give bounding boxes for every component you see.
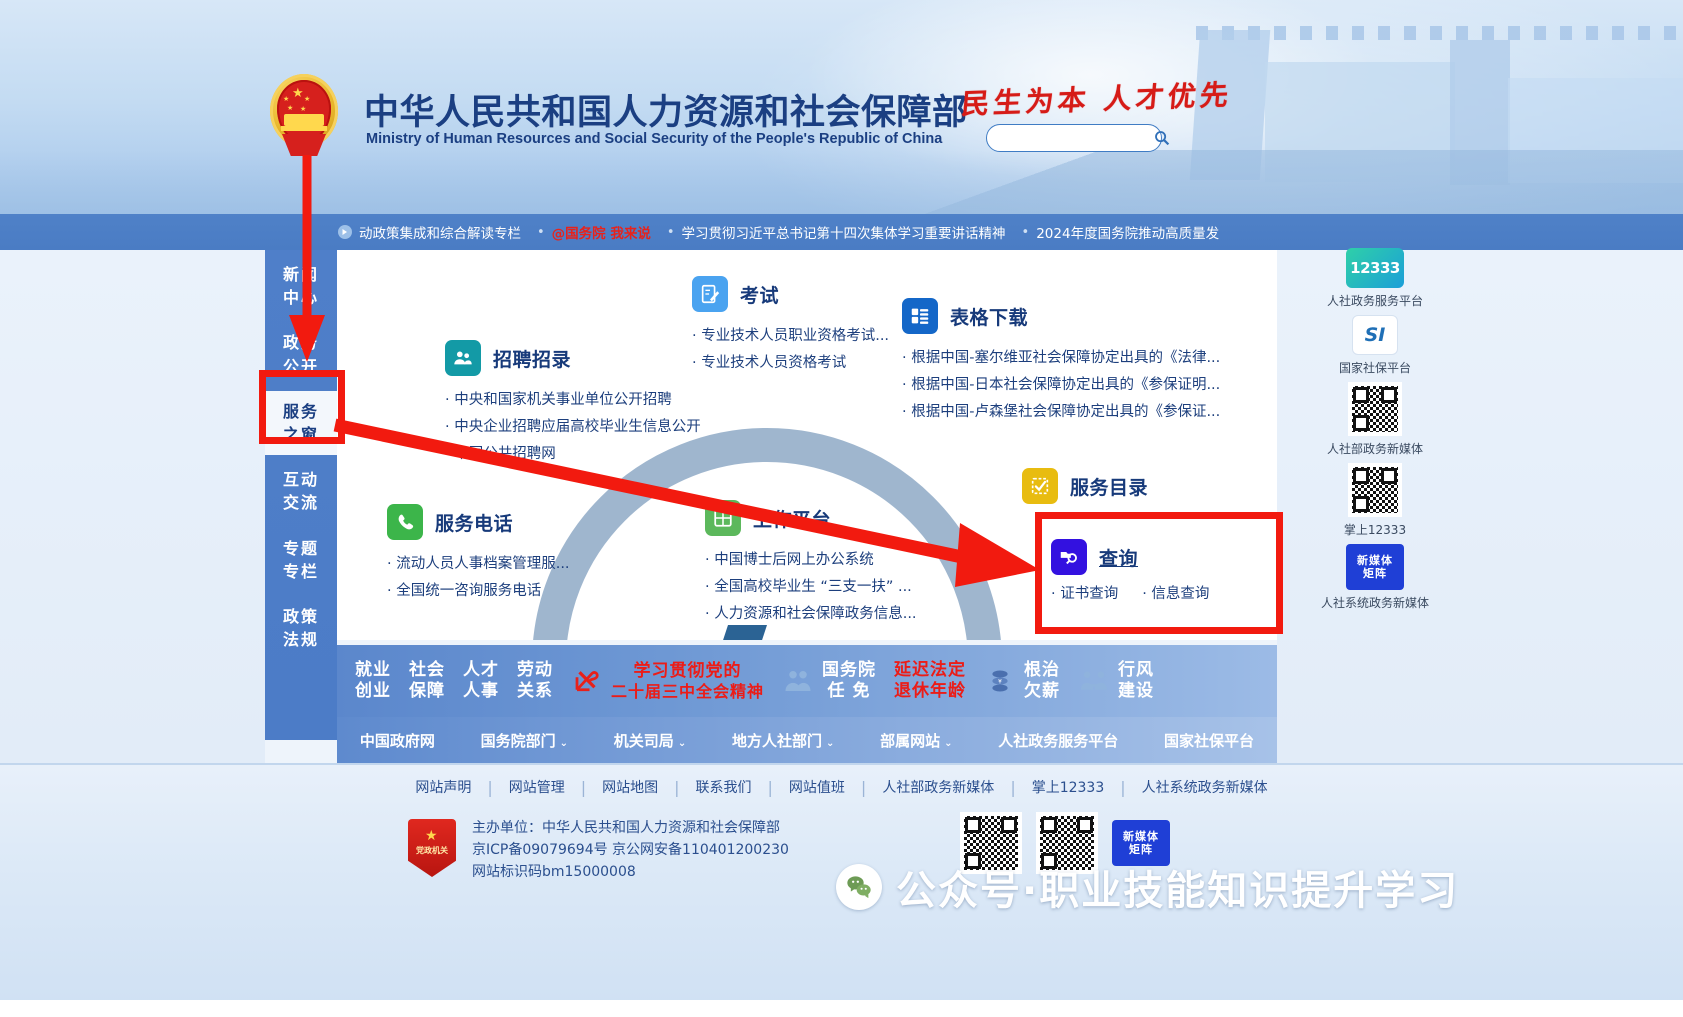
card-link[interactable]: · 专业技术人员职业资格考试... [692, 323, 889, 350]
sitelink-service-platform[interactable]: 人社政务服务平台 [998, 730, 1118, 751]
card-recruit: 招聘招录 · 中央和国家机关事业单位公开招聘 · 中央企业招聘应届高校毕业生信息… [445, 340, 701, 468]
ticker-items: 动政策集成和综合解读专栏 • @国务院 我来说 • 学习贯彻习近平总书记第十四次… [359, 222, 1235, 242]
sidebar-item-label: 之窗 [265, 423, 337, 446]
quicknav-label: 保障 [409, 681, 445, 702]
national-emblem: ★ ★ ★ ★ ★ [268, 72, 340, 160]
ticker-separator: • [537, 225, 545, 240]
quicknav-label: 创业 [355, 681, 391, 702]
quicknav-label: 延迟法定 [894, 660, 966, 681]
ticker-item[interactable]: 学习贯彻习近平总书记第十四次集体学习重要讲话精神 [682, 222, 1006, 242]
card-title: 服务目录 [1070, 473, 1148, 500]
card-service-catalog: 服务目录 [1022, 468, 1148, 504]
sitelink-national-insurance-platform[interactable]: 国家社保平台 [1164, 730, 1254, 751]
sidebar-item-label: 新闻 [265, 263, 337, 286]
sitelink-label: 部属网站 [880, 732, 940, 750]
quicknav-wage-arrears[interactable]: ¥ 根治 欠薪 [984, 660, 1060, 701]
rail-item-label: 人社系统政务新媒体 [1321, 594, 1429, 611]
card-link[interactable]: · 证书查询 [1051, 584, 1118, 604]
handshake-icon [1078, 665, 1110, 697]
logo-si-icon: SI [1352, 315, 1398, 355]
quick-navigation-bar: 就业 创业 社会 保障 人才 人事 劳动 关系 [337, 645, 1277, 717]
sitelink-agency-bureaus[interactable]: 机关司局⌄ [614, 730, 686, 751]
quicknav-label: 人事 [463, 681, 499, 702]
search-box[interactable] [986, 124, 1162, 152]
svg-text:¥: ¥ [998, 679, 1002, 685]
site-links-bar: 中国政府网 国务院部门⌄ 机关司局⌄ 地方人社部门⌄ 部属网站⌄ 人社政务服务平… [337, 717, 1277, 763]
card-link[interactable]: · 中国公共招聘网 [445, 441, 701, 468]
card-title: 服务电话 [435, 509, 513, 536]
card-title: 招聘招录 [493, 345, 571, 372]
watermark: 公众号·职业技能知识提升学习 [836, 858, 1459, 916]
quicknav-retirement-age[interactable]: 延迟法定 退休年龄 [894, 660, 966, 701]
rail-item-national-insurance[interactable]: SI 国家社保平台 [1339, 315, 1411, 376]
window-grid-icon [705, 500, 741, 536]
rail-item-label: 人社部政务新媒体 [1327, 440, 1423, 457]
people-group-icon [782, 665, 814, 697]
card-work-platform: 上作平台 · 中国博士后网上办公系统 · 全国高校毕业生 “三支一扶” ... … [705, 500, 917, 628]
footer-link-sitemap[interactable]: 网站地图 [586, 777, 674, 797]
rail-item-label: 掌上12333 [1344, 521, 1406, 538]
quicknav-label: 社会 [409, 660, 445, 681]
quicknav-label: 就业 [355, 660, 391, 681]
bottom-strip [0, 1000, 1683, 1017]
sidebar-item-label: 公开 [265, 355, 337, 378]
rail-item-mobile-12333[interactable]: 掌上12333 [1344, 463, 1406, 538]
qr-code-icon [1348, 382, 1402, 436]
card-link[interactable]: · 人力资源和社会保障政务信息... [705, 601, 917, 628]
sitelink-state-council-departments[interactable]: 国务院部门⌄ [481, 730, 568, 751]
quicknav-label: 欠薪 [1024, 681, 1060, 702]
card-link[interactable]: · 专业技术人员资格考试 [692, 350, 889, 377]
exam-pencil-icon [692, 276, 728, 312]
quicknav-label: 退休年龄 [894, 681, 966, 702]
chevron-down-icon: ⌄ [944, 738, 952, 749]
card-exam: 考试 · 专业技术人员职业资格考试... · 专业技术人员资格考试 [692, 276, 889, 377]
chevron-down-icon: ⌄ [678, 738, 686, 749]
card-link[interactable]: · 流动人员人事档案管理服... [387, 551, 570, 578]
quicknav-conduct-building[interactable]: 行风 建设 [1078, 660, 1154, 701]
media-tile-line1: 新媒体 [1357, 554, 1393, 567]
sitelink-label: 机关司局 [614, 732, 674, 750]
media-matrix-tile: 新媒体 矩阵 [1346, 544, 1404, 590]
footer-link-statement[interactable]: 网站声明 [399, 777, 487, 797]
quicknav-label: 二十届三中全会精神 [611, 682, 764, 702]
folder-search-icon [1051, 539, 1087, 575]
sidebar-item-label: 专栏 [265, 560, 337, 583]
rail-item-label: 人社政务服务平台 [1327, 292, 1423, 309]
quicknav-state-council-appointments[interactable]: 国务院 任 免 [782, 660, 876, 701]
chevron-down-icon: ⌄ [560, 738, 568, 749]
quicknav-label: 任 免 [828, 681, 871, 702]
card-title: 查询 [1099, 544, 1138, 571]
left-navigation: 新闻 中心 政务 公开 服务 之窗 互动 交流 专题 专栏 政策 法规 [265, 250, 337, 740]
wechat-icon [836, 864, 882, 910]
page-title: 中华人民共和国人力资源和社会保障部 [364, 84, 968, 135]
chevron-down-icon: ⌄ [826, 738, 834, 749]
quicknav-labor-relations[interactable]: 劳动 关系 [517, 660, 553, 701]
footer-info-line: 主办单位：中华人民共和国人力资源和社会保障部 [472, 817, 789, 839]
card-title: 考试 [740, 281, 779, 308]
hammer-sickle-icon [571, 665, 603, 697]
quicknav-label: 行风 [1118, 660, 1154, 681]
footer-info: 主办单位：中华人民共和国人力资源和社会保障部 京ICP备09079694号 京公… [472, 817, 789, 883]
logo-12333-icon: 12333 [1346, 248, 1404, 288]
gov-badge-text: 党政机关 [408, 846, 456, 856]
card-link[interactable]: · 全国高校毕业生 “三支一扶” ... [705, 574, 917, 601]
sidebar-item-policy-regulation[interactable]: 政策 法规 [265, 596, 337, 660]
sidebar-item-label: 政策 [265, 605, 337, 628]
card-title: 表格下载 [950, 303, 1028, 330]
quicknav-label: 国务院 [822, 660, 876, 681]
ticker-item[interactable]: @国务院 我来说 [552, 222, 651, 242]
coins-icon: ¥ [984, 665, 1016, 697]
media-tile-line2: 矩阵 [1363, 567, 1387, 580]
sidebar-item-special-topics[interactable]: 专题 专栏 [265, 528, 337, 592]
sidebar-item-interaction[interactable]: 互动 交流 [265, 459, 337, 523]
quicknav-party-study[interactable]: 学习贯彻党的 二十届三中全会精神 [571, 661, 764, 701]
card-title: 上作平台 [753, 505, 831, 532]
media-tile-line2: 矩阵 [1129, 843, 1153, 856]
sitelink-label: 地方人社部门 [732, 732, 822, 750]
search-icon[interactable] [1154, 128, 1170, 148]
play-arrow-icon [338, 225, 352, 239]
quicknav-label: 人才 [463, 660, 499, 681]
footer-link-duty[interactable]: 网站值班 [773, 777, 861, 797]
ticker-separator: • [667, 225, 675, 240]
footer-link-ministry-media[interactable]: 人社部政务新媒体 [866, 777, 1010, 797]
sitelink-local-departments[interactable]: 地方人社部门⌄ [732, 730, 834, 751]
card-link[interactable]: · 中央企业招聘应届高校毕业生信息公开 [445, 414, 701, 441]
footer-info-line[interactable]: 京ICP备09079694号 京公网安备110401200230 [472, 839, 789, 861]
footer-link-mobile-12333[interactable]: 掌上12333 [1016, 777, 1121, 797]
sidebar-item-label: 交流 [265, 491, 337, 514]
card-query: 查询 · 证书查询 · 信息查询 [1029, 523, 1257, 611]
sidebar-item-label: 法规 [265, 628, 337, 651]
site-header: ★ ★ ★ ★ ★ 中华人民共和国人力资源和社会保障部 Ministry of … [0, 0, 1683, 228]
sitelink-china-gov[interactable]: 中国政府网 [360, 730, 435, 751]
sidebar-item-news[interactable]: 新闻 中心 [265, 254, 337, 318]
service-window-panel: 招聘招录 · 中央和国家机关事业单位公开招聘 · 中央企业招聘应届高校毕业生信息… [337, 250, 1277, 640]
search-input[interactable] [999, 131, 1154, 145]
rail-item-system-media-matrix[interactable]: 新媒体 矩阵 人社系统政务新媒体 [1321, 544, 1429, 611]
checklist-icon [1022, 468, 1058, 504]
footer-link-contact[interactable]: 联系我们 [680, 777, 768, 797]
quicknav-label: 学习贯彻党的 [634, 661, 742, 682]
card-link[interactable]: · 根据中国-塞尔维亚社会保障协定出具的《法律... [902, 345, 1220, 372]
gov-website-badge[interactable]: ★ 党政机关 [408, 819, 456, 877]
ticker-item[interactable]: 2024年度国务院推动高质量发 [1036, 222, 1219, 242]
sidebar-item-label: 服务 [265, 400, 337, 423]
rail-item-ministry-media[interactable]: 人社部政务新媒体 [1327, 382, 1423, 457]
card-link[interactable]: · 信息查询 [1142, 584, 1209, 604]
sidebar-item-label: 政务 [265, 331, 337, 354]
page-subtitle: Ministry of Human Resources and Social S… [366, 131, 942, 147]
footer-info-line: 网站标识码bm15000008 [472, 861, 789, 883]
people-icon [445, 340, 481, 376]
quicknav-label: 关系 [517, 681, 553, 702]
card-link[interactable]: · 全国统一咨询服务电话 [387, 578, 570, 605]
sitelink-label: 国务院部门 [481, 732, 556, 750]
card-form-download: 表格下载 · 根据中国-塞尔维亚社会保障协定出具的《法律... · 根据中国-日… [902, 298, 1220, 426]
quicknav-social-security[interactable]: 社会 保障 [409, 660, 445, 701]
page-root: ★ ★ ★ ★ ★ 中华人民共和国人力资源和社会保障部 Ministry of … [0, 0, 1683, 1017]
card-link[interactable]: · 根据中国-卢森堡社会保障协定出具的《参保证... [902, 399, 1220, 426]
rail-item-label: 国家社保平台 [1339, 359, 1411, 376]
sidebar-item-government-affairs[interactable]: 政务 公开 [265, 322, 337, 386]
watermark-text: 公众号·职业技能知识提升学习 [896, 858, 1459, 916]
qr-code-icon [1348, 463, 1402, 517]
card-link[interactable]: · 中央和国家机关事业单位公开招聘 [445, 387, 701, 414]
sidebar-item-label: 专题 [265, 537, 337, 560]
footer-link-system-media[interactable]: 人社系统政务新媒体 [1126, 777, 1284, 797]
phone-icon [387, 504, 423, 540]
sitelink-affiliated-sites[interactable]: 部属网站⌄ [880, 730, 952, 751]
sidebar-item-label: 互动 [265, 468, 337, 491]
card-link[interactable]: · 根据中国-日本社会保障协定出具的《参保证明... [902, 372, 1220, 399]
quicknav-label: 建设 [1118, 681, 1154, 702]
right-rail: 12333 人社政务服务平台 SI 国家社保平台 人社部政务新媒体 掌上1233… [1300, 248, 1450, 611]
card-link[interactable]: · 中国博士后网上办公系统 [705, 547, 917, 574]
sitelink-label: 中国政府网 [360, 732, 435, 750]
sitelink-label: 人社政务服务平台 [998, 732, 1118, 750]
footer-link-management[interactable]: 网站管理 [493, 777, 581, 797]
card-service-phone: 服务电话 · 流动人员人事档案管理服... · 全国统一咨询服务电话 [387, 504, 570, 605]
quicknav-label: 根治 [1024, 660, 1060, 681]
news-ticker[interactable]: 动政策集成和综合解读专栏 • @国务院 我来说 • 学习贯彻习近平总书记第十四次… [0, 214, 1683, 250]
sidebar-item-service-window[interactable]: 服务 之窗 [265, 391, 337, 455]
ticker-separator: • [1022, 225, 1030, 240]
left-gutter [0, 250, 265, 763]
form-list-icon [902, 298, 938, 334]
quicknav-employment[interactable]: 就业 创业 [355, 660, 391, 701]
media-tile-line1: 新媒体 [1123, 830, 1159, 843]
ticker-item[interactable]: 动政策集成和综合解读专栏 [359, 222, 521, 242]
sitelink-label: 国家社保平台 [1164, 732, 1254, 750]
quicknav-talent-personnel[interactable]: 人才 人事 [463, 660, 499, 701]
rail-item-service-platform[interactable]: 12333 人社政务服务平台 [1327, 248, 1423, 309]
quicknav-label: 劳动 [517, 660, 553, 681]
sidebar-item-label: 中心 [265, 286, 337, 309]
footer-links: 网站声明| 网站管理| 网站地图| 联系我们| 网站值班| 人社部政务新媒体| … [0, 777, 1683, 797]
